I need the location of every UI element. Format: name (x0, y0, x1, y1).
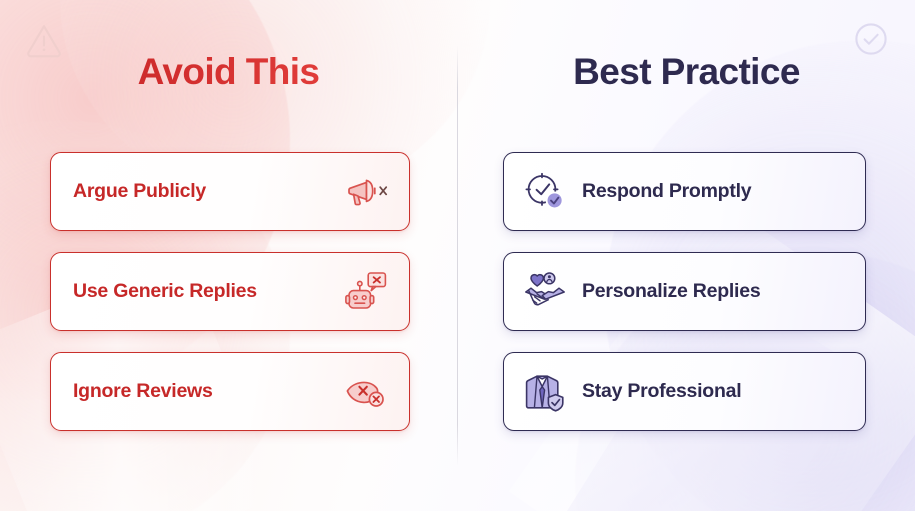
best-card-label: Stay Professional (582, 380, 741, 403)
robot-x-icon (345, 272, 389, 312)
megaphone-x-icon (345, 172, 389, 212)
best-card-respond-promptly[interactable]: Respond Promptly (503, 152, 866, 231)
page-title-avoid: Avoid This (0, 51, 457, 93)
page-title-best: Best Practice (458, 51, 915, 93)
column-divider (457, 46, 458, 466)
best-card-label: Personalize Replies (582, 280, 760, 303)
handshake-heart-icon (524, 272, 566, 312)
clock-check-icon (524, 172, 566, 212)
best-card-stay-professional[interactable]: Stay Professional (503, 352, 866, 431)
avoid-card-ignore-reviews[interactable]: Ignore Reviews (50, 352, 410, 431)
avoid-card-label: Use Generic Replies (73, 280, 257, 303)
eye-x-icon (345, 372, 389, 412)
comparison-infographic: Avoid This Best Practice Argue Publicly … (0, 0, 915, 511)
avoid-card-use-generic-replies[interactable]: Use Generic Replies (50, 252, 410, 331)
best-card-personalize-replies[interactable]: Personalize Replies (503, 252, 866, 331)
avoid-card-argue-publicly[interactable]: Argue Publicly (50, 152, 410, 231)
avoid-card-label: Ignore Reviews (73, 380, 213, 403)
suit-shield-icon (524, 372, 566, 412)
avoid-list: Argue Publicly Use Generic Replies (50, 152, 410, 431)
avoid-card-label: Argue Publicly (73, 180, 206, 203)
best-practice-list: Respond Promptly Personalize Replies (503, 152, 866, 431)
best-card-label: Respond Promptly (582, 180, 751, 203)
